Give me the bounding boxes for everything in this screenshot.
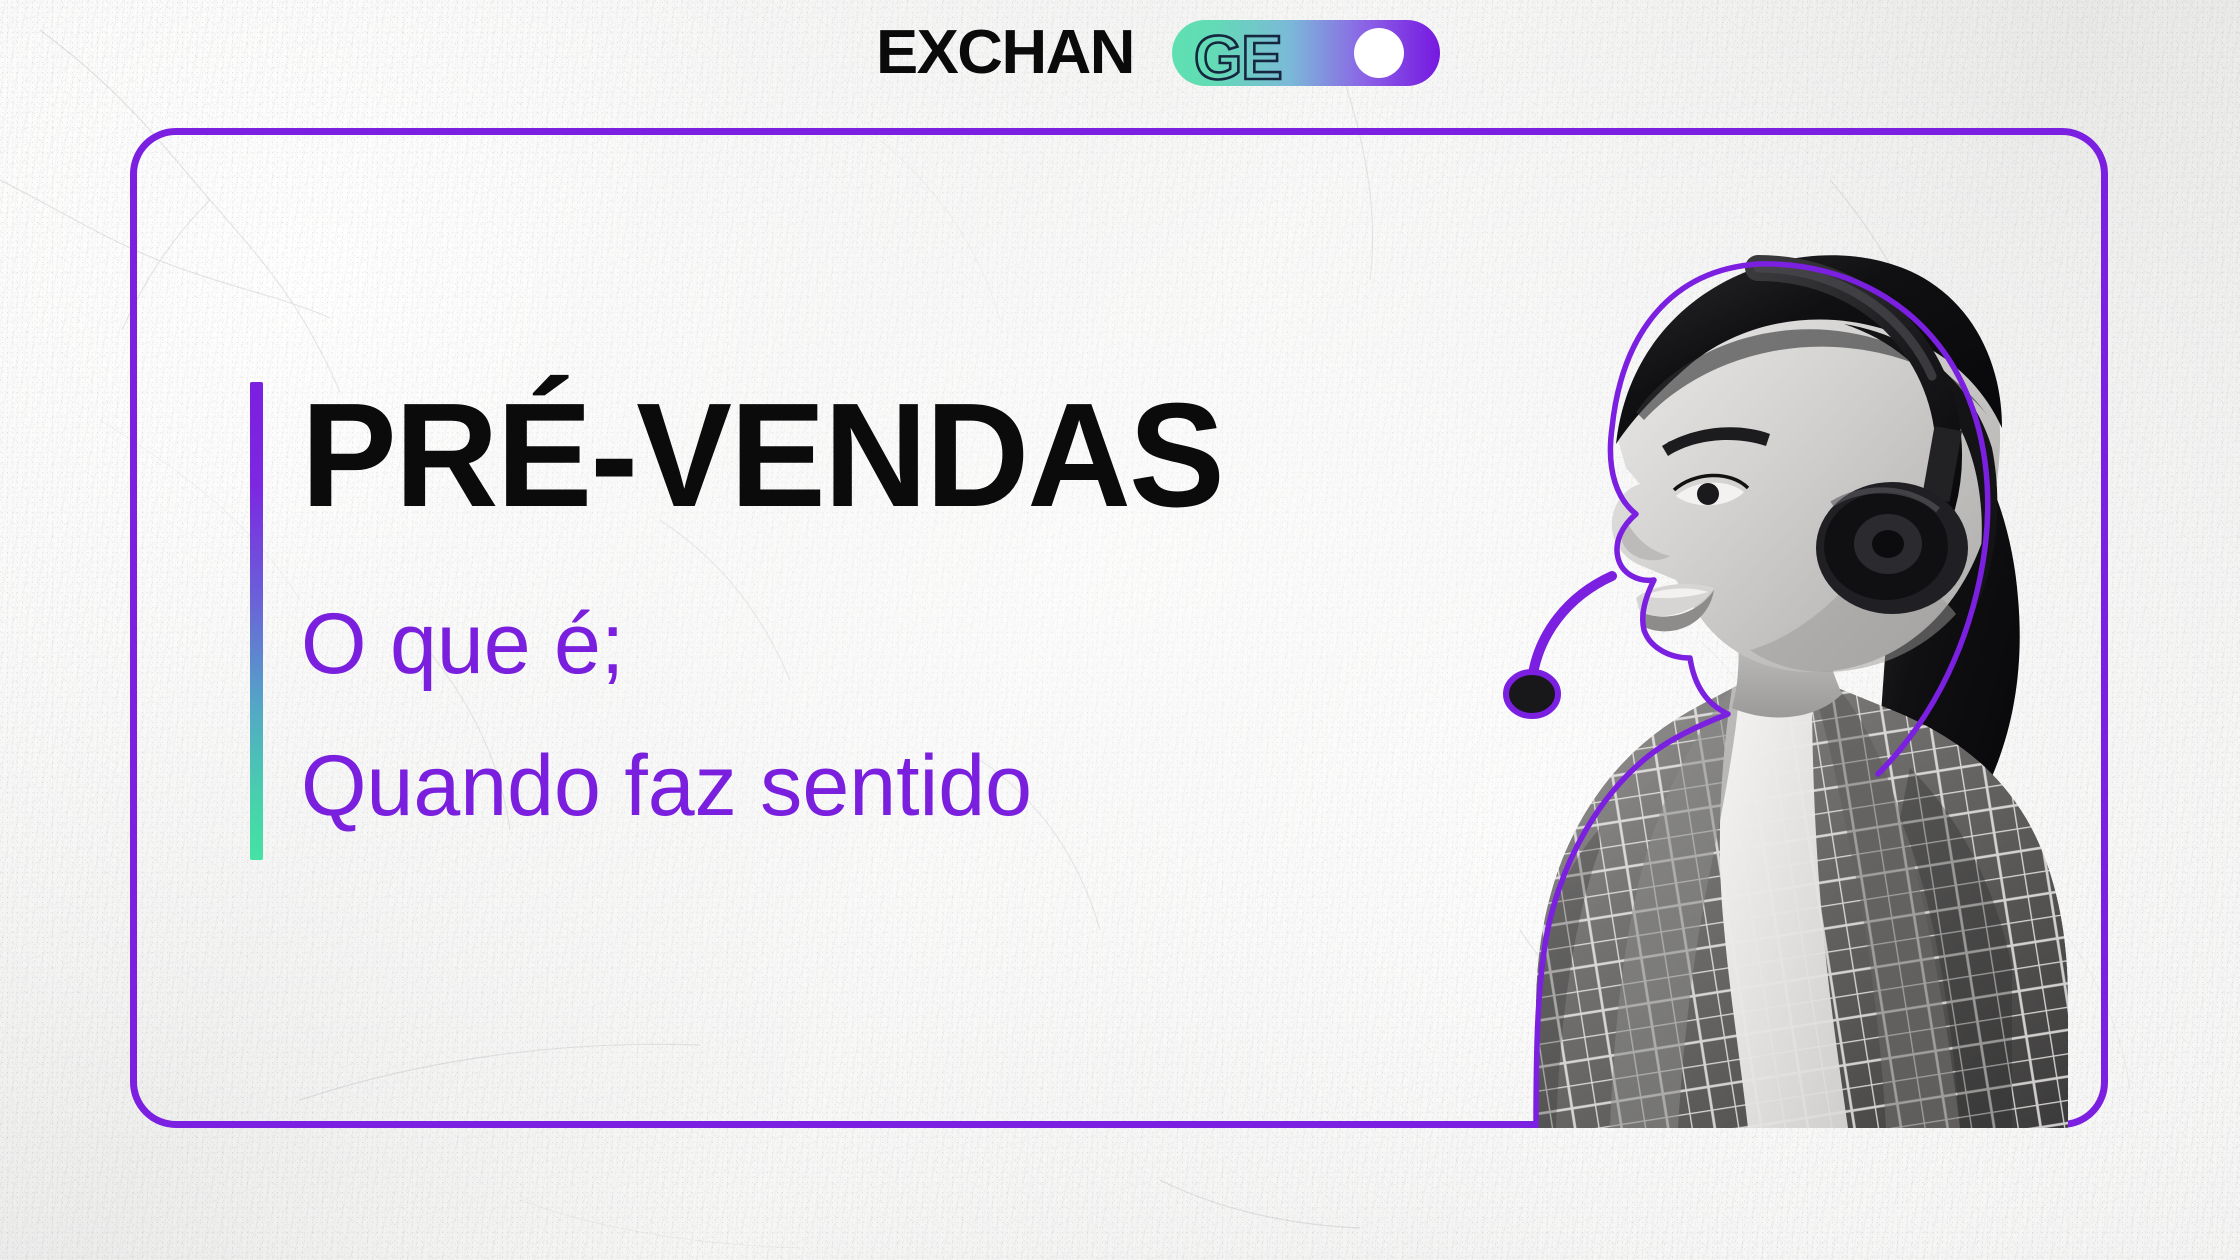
gradient-accent-bar [250, 382, 263, 860]
logo-wordmark-solid: EXCHAN [876, 22, 1134, 84]
headline-block: PRÉ-VENDAS O que é; Quando faz sentido [250, 382, 1251, 860]
poster-canvas: EXCHAN GE PRÉ-VENDAS O que é; Quando faz… [0, 0, 2240, 1260]
subtitle-line-1: O que é; [301, 586, 1232, 702]
headline-text-column: PRÉ-VENDAS O que é; Quando faz sentido [263, 382, 1251, 860]
page-title: PRÉ-VENDAS [301, 382, 1223, 530]
logo-wordmark-outline: GE [1194, 28, 1282, 90]
logo-toggle-knob-icon [1354, 28, 1404, 78]
brand-logo[interactable]: EXCHAN GE [876, 14, 1129, 92]
subtitle-line-2: Quando faz sentido [301, 728, 1232, 844]
